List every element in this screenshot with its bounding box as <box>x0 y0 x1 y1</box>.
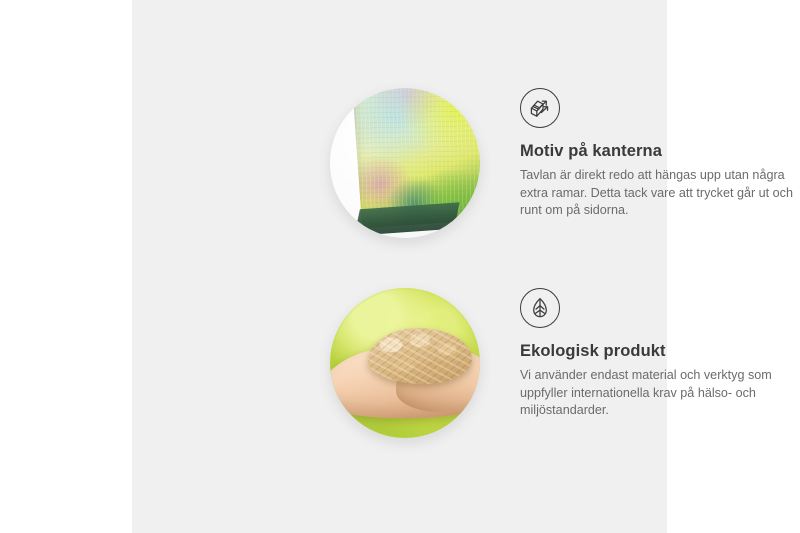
feature-body-eco: Vi använder endast material och verktyg … <box>520 367 800 420</box>
leaf-glyph <box>527 295 553 321</box>
content-stage: Motiv på kanterna Tavlan är direkt redo … <box>132 0 667 533</box>
product-feature-panel: Motiv på kanterna Tavlan är direkt redo … <box>0 0 800 533</box>
feature-title-eco: Ekologisk produkt <box>520 342 800 361</box>
feature-title-edges: Motiv på kanterna <box>520 142 800 161</box>
feature-text-edges: Motiv på kanterna Tavlan är direkt redo … <box>520 88 800 220</box>
leaf-icon <box>520 288 560 328</box>
feature-body-edges: Tavlan är direkt redo att hängas upp uta… <box>520 167 800 220</box>
feature-text-eco: Ekologisk produkt Vi använder endast mat… <box>520 288 800 420</box>
canvas-wrapped-edges-icon <box>520 88 560 128</box>
wood-chips <box>368 328 472 384</box>
hands-holding-woodchips-photo <box>330 288 480 438</box>
canvas-print-corner-photo <box>330 88 480 238</box>
canvas-wrapped-edges-glyph <box>527 95 553 121</box>
wood-chip-texture <box>368 328 472 384</box>
